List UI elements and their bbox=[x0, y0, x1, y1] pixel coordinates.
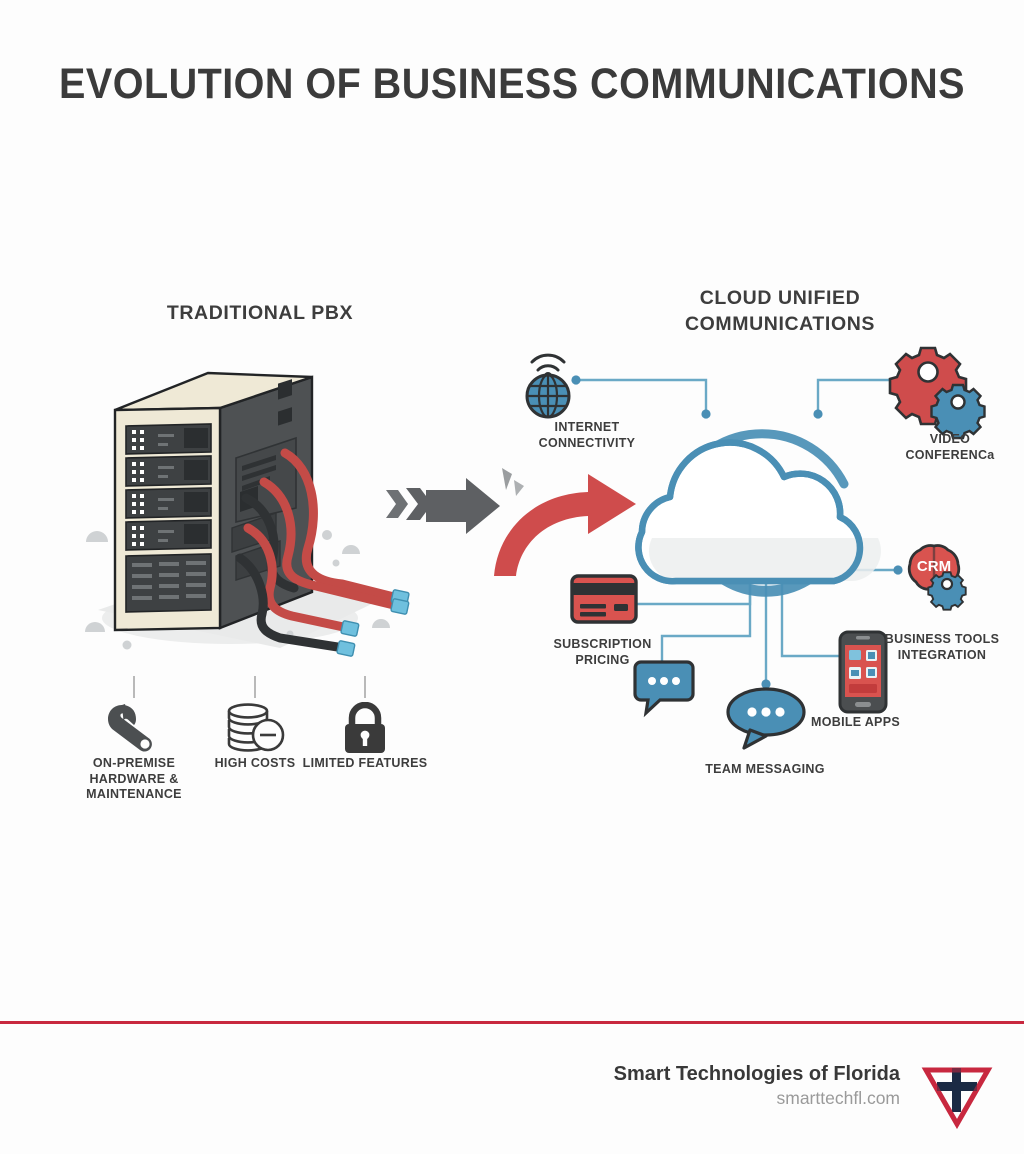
node-label-team-messaging: TEAM MESSAGING bbox=[695, 762, 835, 778]
node-label-video-conferencing: VIDEO CONFERENCa bbox=[885, 432, 1015, 463]
gears-icon bbox=[890, 348, 985, 438]
node-label-internet-connectivity: INTERNET CONNECTIVITY bbox=[512, 420, 662, 451]
footer-company-name: Smart Technologies of Florida bbox=[614, 1062, 900, 1087]
padlock-icon bbox=[305, 702, 425, 754]
credit-card-icon bbox=[572, 576, 636, 622]
node-label-business-tools-integration: BUSINESS TOOLS INTEGRATION bbox=[872, 632, 1012, 663]
chat-bubble-square-icon bbox=[635, 662, 693, 713]
smart-technologies-triangle-cross-logo bbox=[920, 1062, 994, 1132]
crm-brain-gear-icon: CRM bbox=[909, 545, 965, 609]
cloud-unified-communications-diagram: CRM bbox=[510, 336, 1024, 786]
footer-branding: Smart Technologies of Florida smarttechf… bbox=[614, 1062, 900, 1110]
wrench-icon bbox=[74, 702, 194, 754]
connector-tick bbox=[133, 676, 135, 698]
pbx-attribute-label: ON-PREMISE HARDWARE & MAINTENANCE bbox=[68, 756, 200, 803]
coins-minus-icon bbox=[195, 702, 315, 754]
page-title: EVOLUTION OF BUSINESS COMMUNICATIONS bbox=[41, 58, 983, 111]
connector-tick bbox=[364, 676, 366, 698]
traditional-pbx-server-illustration bbox=[80, 360, 410, 660]
footer-website: smarttechfl.com bbox=[614, 1087, 900, 1110]
connector-tick bbox=[254, 676, 256, 698]
footer-divider bbox=[0, 1021, 1024, 1024]
infographic-page: EVOLUTION OF BUSINESS COMMUNICATIONS TRA… bbox=[0, 0, 1024, 1154]
cloud-unified-communications-heading: CLOUD UNIFIED COMMUNICATIONS bbox=[620, 285, 940, 337]
node-label-mobile-apps: MOBILE APPS bbox=[793, 715, 918, 731]
traditional-pbx-attribute-list: ON-PREMISE HARDWARE & MAINTENANCE bbox=[60, 676, 420, 821]
traditional-pbx-heading: TRADITIONAL PBX bbox=[95, 300, 425, 326]
node-label-subscription-pricing: SUBSCRIPTION PRICING bbox=[535, 637, 670, 668]
globe-wifi-icon bbox=[527, 355, 569, 417]
pbx-attribute-label: LIMITED FEATURES bbox=[299, 756, 431, 772]
cloud-icon bbox=[638, 443, 881, 582]
